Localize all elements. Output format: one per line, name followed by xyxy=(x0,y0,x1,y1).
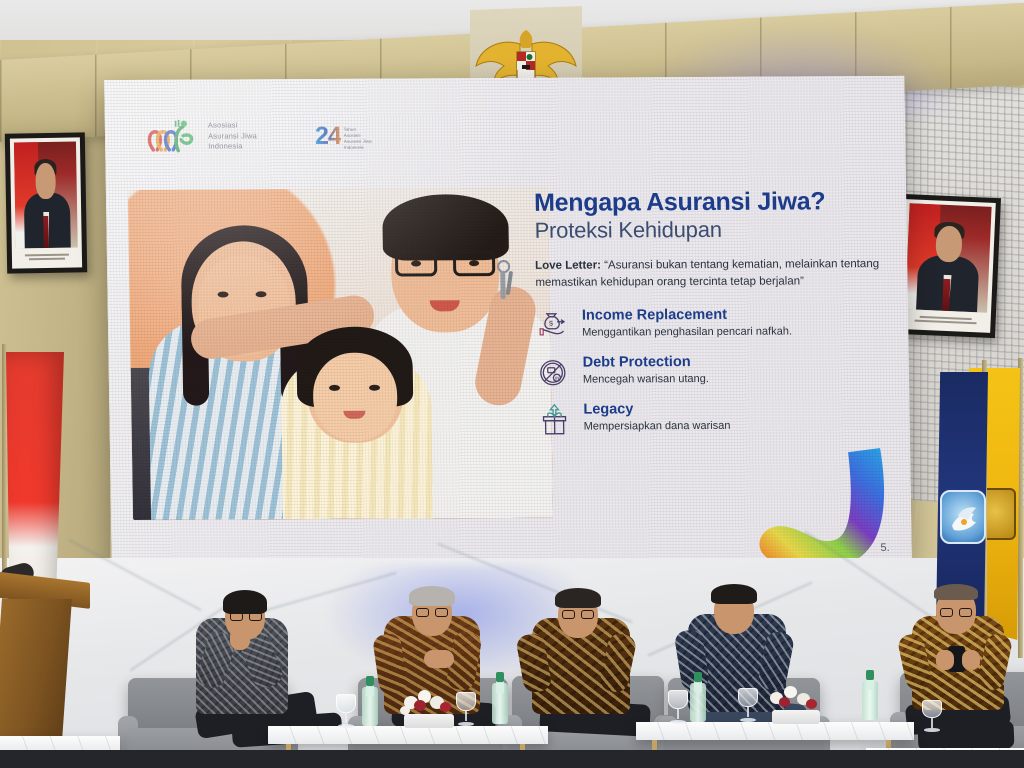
eyeglasses-icon xyxy=(562,610,594,619)
house-keys-icon xyxy=(497,260,520,304)
slide-page-number: 5. xyxy=(880,542,889,554)
svg-text:IN: IN xyxy=(555,376,560,381)
wine-glass xyxy=(738,688,758,722)
flower-arrangement xyxy=(398,688,460,728)
stage-floor-edge xyxy=(0,750,1024,768)
conference-room-scene: Asosiasi Asuransi Jiwa Indonesia 24 Tahu… xyxy=(0,0,1024,768)
benefit-title: Legacy xyxy=(583,402,730,419)
no-debt-icon: IN xyxy=(537,356,572,390)
love-letter-quote: Love Letter: “Asuransi bukan tentang kem… xyxy=(535,256,884,290)
gift-box-icon xyxy=(537,403,572,437)
eyeglasses-icon xyxy=(940,608,972,617)
aaji-line-1: Asosiasi xyxy=(208,120,257,131)
aaji-swirl-logo-icon xyxy=(147,120,200,154)
wine-glass xyxy=(668,690,688,724)
svg-text:$: $ xyxy=(549,321,553,328)
gradient-swoosh-decoration xyxy=(748,448,900,566)
money-bag-hand-icon: $ xyxy=(536,309,571,343)
flower-arrangement xyxy=(766,684,826,724)
aaji-logo: Asosiasi Asuransi Jiwa Indonesia xyxy=(147,119,257,154)
benefit-list: $ Income Replacement Menggantikan pengha… xyxy=(536,307,886,437)
benefit-item: IN Debt Protection Mencegah warisan utan… xyxy=(537,354,886,390)
benefit-item: $ Income Replacement Menggantikan pengha… xyxy=(536,307,885,343)
president-portrait-caption xyxy=(16,247,78,266)
benefit-desc: Mencegah warisan utang. xyxy=(583,373,709,387)
slide-logos: Asosiasi Asuransi Jiwa Indonesia 24 Tahu… xyxy=(147,119,374,154)
family-photo xyxy=(128,188,553,520)
president-portrait xyxy=(5,132,87,273)
benefit-item: Legacy Mempersiapkan dana warisan xyxy=(537,401,886,437)
wine-glass xyxy=(456,692,476,726)
coffee-table xyxy=(268,726,548,744)
anniversary-logo: 24 Tahun Asosiasi Asuransi Jiwa Indonesi… xyxy=(315,121,374,150)
vice-president-portrait xyxy=(895,194,1001,338)
aaji-logo-text: Asosiasi Asuransi Jiwa Indonesia xyxy=(208,120,257,153)
aaji-line-2: Asuransi Jiwa xyxy=(208,131,257,142)
water-bottle xyxy=(492,672,508,724)
coffee-table xyxy=(636,722,914,740)
vice-president-portrait-caption xyxy=(904,309,987,331)
love-letter-label: Love Letter: xyxy=(535,260,601,272)
eyeglasses-icon xyxy=(230,612,262,621)
projection-screen: Asosiasi Asuransi Jiwa Indonesia 24 Tahu… xyxy=(104,76,912,566)
benefit-desc: Menggantikan penghasilan pencari nafkah. xyxy=(582,325,792,340)
slide-subtitle: Proteksi Kehidupan xyxy=(534,216,882,244)
eyeglasses-icon xyxy=(416,608,448,617)
anniversary-number: 24 xyxy=(315,121,341,150)
aaji-line-3: Indonesia xyxy=(208,142,257,153)
flag-dove-emblem xyxy=(940,490,986,544)
water-bottle xyxy=(862,670,878,720)
anniversary-caption: Tahun Asosiasi Asuransi Jiwa Indonesia xyxy=(344,127,374,151)
water-bottle xyxy=(690,672,706,722)
presentation-slide: Asosiasi Asuransi Jiwa Indonesia 24 Tahu… xyxy=(104,76,912,566)
wine-glass xyxy=(336,694,356,728)
slide-title: Mengapa Asuransi Jiwa? xyxy=(534,188,882,216)
benefit-title: Debt Protection xyxy=(583,355,709,372)
eyeglasses-icon xyxy=(395,250,495,277)
benefit-title: Income Replacement xyxy=(582,307,792,324)
water-bottle xyxy=(362,676,378,726)
benefit-desc: Mempersiapkan dana warisan xyxy=(584,420,731,435)
slide-text-column: Mengapa Asuransi Jiwa? Proteksi Kehidupa… xyxy=(534,188,886,437)
wine-glass xyxy=(922,700,942,732)
